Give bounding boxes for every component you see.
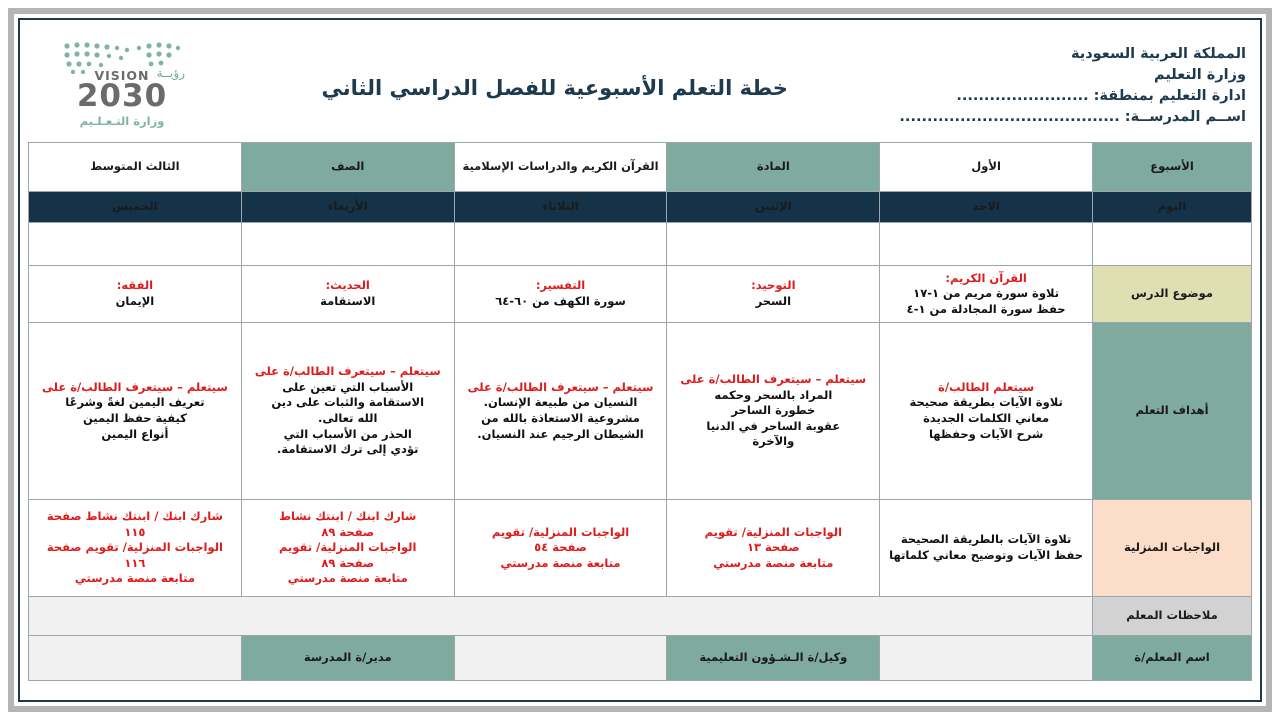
homework-thursday-line-2: ١١٦ (33, 556, 237, 572)
homework-sunday-line-1: حفظ الآيات وتوضيح معاني كلماتها (884, 548, 1088, 564)
homework-tuesday-line-1: متابعة منصة مدرستي (459, 556, 663, 572)
homework-tuesday: الواجبات المنزلية/ تقويم صفحة ٥٤ متابعة … (454, 500, 667, 597)
cell-subject-value: القرآن الكريم والدراسات الإسلامية (454, 143, 667, 192)
homework-thursday: شارك ابنك / ابنتك نشاط صفحة ١١٥ الواجبات… (29, 500, 242, 597)
cell-day-thursday: الخميس (29, 192, 242, 223)
homework-wednesday-line-1: الواجبات المنزلية/ تقويم (246, 540, 450, 556)
goals-sunday-line-0: تلاوة الآيات بطريقة صحيحة (884, 395, 1088, 411)
lesson-topic-sunday-heading: القرآن الكريم: (884, 271, 1088, 287)
lesson-topic-monday: التوحيد: السحر (667, 266, 880, 323)
homework-thursday-line-0: ١١٥ (33, 525, 237, 541)
goals-wednesday-line-3: الحذر من الأسباب التي (246, 427, 450, 443)
table-row-teacher-notes: ملاحظات المعلم (29, 597, 1252, 636)
homework-wednesday-heading: شارك ابنك / ابنتك نشاط (246, 509, 450, 525)
goals-monday-line-2: عقوبة الساحر في الدنيا (671, 419, 875, 435)
goals-tuesday-line-0: النسيان من طبيعة الإنسان. (459, 395, 663, 411)
homework-wednesday-line-2: صفحة ٨٩ (246, 556, 450, 572)
table-row-spacer (29, 223, 1252, 266)
homework-tuesday-line-0: صفحة ٥٤ (459, 540, 663, 556)
page-frame: المملكة العربية السعودية وزارة التعليم ا… (8, 8, 1272, 712)
table-row-meta: الأسبوع الأول المادة القرآن الكريم والدر… (29, 143, 1252, 192)
header-institution-block: المملكة العربية السعودية وزارة التعليم ا… (899, 28, 1246, 128)
lesson-topic-tuesday-line-0: سورة الكهف من ٦٠-٦٤ (459, 294, 663, 310)
signature-field-teacher[interactable] (880, 636, 1093, 681)
goals-monday-line-0: المراد بالسحر وحكمه (671, 388, 875, 404)
lesson-topic-sunday-line-1: حفظ سورة المجادلة من ١-٤ (884, 302, 1088, 318)
goals-tuesday: سيتعلم – سيتعرف الطالب/ة على النسيان من … (454, 323, 667, 500)
row-label-lesson-topic: موضوع الدرس (1093, 266, 1252, 323)
homework-monday-line-1: متابعة منصة مدرستي (671, 556, 875, 572)
cell-week-value: الأول (880, 143, 1093, 192)
logo-ministry-label: وزارة التـعـلـيم (47, 114, 197, 128)
goals-tuesday-line-1: مشروعية الاستعاذة بالله من (459, 411, 663, 427)
cell-day-wednesday: الأربعاء (241, 192, 454, 223)
cell-day-tuesday: الثلاثاء (454, 192, 667, 223)
signature-label-academic-affairs: وكيل/ة الـشـؤون التعليمية (667, 636, 880, 681)
homework-monday-heading: الواجبات المنزلية/ تقويم (671, 525, 875, 541)
spacer-cell-3 (454, 223, 667, 266)
homework-thursday-line-1: الواجبات المنزلية/ تقويم صفحة (33, 540, 237, 556)
goals-monday: سيتعلم – سيتعرف الطالب/ة على المراد بالس… (667, 323, 880, 500)
row-label-teacher-notes: ملاحظات المعلم (1093, 597, 1252, 636)
lesson-topic-sunday-line-0: تلاوة سورة مريم من ١-١٧ (884, 286, 1088, 302)
homework-wednesday: شارك ابنك / ابنتك نشاط صفحة ٨٩ الواجبات … (241, 500, 454, 597)
ministry-line: وزارة التعليم (899, 65, 1246, 86)
goals-wednesday-heading: سيتعلم – سيتعرف الطالب/ة على (246, 364, 450, 380)
cell-day-label: اليوم (1093, 192, 1252, 223)
homework-thursday-line-3: متابعة منصة مدرستي (33, 571, 237, 587)
table-row-days: اليوم الاحد الإثنين الثلاثاء الأربعاء ال… (29, 192, 1252, 223)
goals-thursday-heading: سيتعلم – سيتعرف الطالب/ة على (33, 380, 237, 396)
cell-day-sunday: الاحد (880, 192, 1093, 223)
vision-year: 2030 (47, 78, 197, 114)
lesson-topic-thursday-heading: الفقه: (33, 278, 237, 294)
table-row-learning-goals: أهداف التعلم سيتعلم الطالب/ة تلاوة الآيا… (29, 323, 1252, 500)
spacer-cell-2 (667, 223, 880, 266)
goals-wednesday-line-4: تؤدي إلى ترك الاستقامة. (246, 442, 450, 458)
lesson-topic-tuesday: التفسير: سورة الكهف من ٦٠-٦٤ (454, 266, 667, 323)
table-row-homework: الواجبات المنزلية تلاوة الآيات بالطريقة … (29, 500, 1252, 597)
logo-area: VISION رؤيــة 2030 وزارة التـعـلـيم (34, 28, 210, 134)
row-label-learning-goals: أهداف التعلم (1093, 323, 1252, 500)
goals-monday-line-1: خطورة الساحر (671, 403, 875, 419)
goals-wednesday-line-1: الاستقامة والثبات على دين (246, 395, 450, 411)
page-inner: المملكة العربية السعودية وزارة التعليم ا… (18, 18, 1262, 702)
homework-sunday-line-0: تلاوة الآيات بالطريقة الصحيحة (884, 532, 1088, 548)
row-label-teacher-name: اسم المعلم/ة (1093, 636, 1252, 681)
goals-monday-line-3: والآخرة (671, 434, 875, 450)
kingdom-line: المملكة العربية السعودية (899, 44, 1246, 65)
lesson-topic-wednesday: الحديث: الاستقامة (241, 266, 454, 323)
lesson-topic-wednesday-line-0: الاستقامة (246, 294, 450, 310)
goals-wednesday-line-2: الله تعالى. (246, 411, 450, 427)
signature-field-academic-affairs[interactable] (454, 636, 667, 681)
goals-sunday-line-2: شرح الآيات وحفظها (884, 427, 1088, 443)
goals-tuesday-heading: سيتعلم – سيتعرف الطالب/ة على (459, 380, 663, 396)
goals-thursday: سيتعلم – سيتعرف الطالب/ة على تعريف اليمي… (29, 323, 242, 500)
teacher-notes-field[interactable] (29, 597, 1093, 636)
cell-class-label: الصف (241, 143, 454, 192)
homework-monday-line-0: صفحة ١٣ (671, 540, 875, 556)
goals-thursday-line-2: أنواع اليمين (33, 427, 237, 443)
table-row-lesson-topic: موضوع الدرس القرآن الكريم: تلاوة سورة مر… (29, 266, 1252, 323)
cell-week-label: الأسبوع (1093, 143, 1252, 192)
spacer-cell-0 (1093, 223, 1252, 266)
goals-sunday-heading: سيتعلم الطالب/ة (884, 380, 1088, 396)
homework-wednesday-line-0: صفحة ٨٩ (246, 525, 450, 541)
goals-thursday-line-0: تعريف اليمين لغةً وشرعًا (33, 395, 237, 411)
lesson-topic-sunday: القرآن الكريم: تلاوة سورة مريم من ١-١٧ ح… (880, 266, 1093, 323)
directorate-line: ادارة التعليم بمنطقة: ..................… (899, 86, 1246, 107)
goals-wednesday: سيتعلم – سيتعرف الطالب/ة على الأسباب الت… (241, 323, 454, 500)
goals-thursday-line-1: كيفية حفظ اليمين (33, 411, 237, 427)
spacer-cell-1 (880, 223, 1093, 266)
signature-field-principal[interactable] (29, 636, 242, 681)
spacer-cell-4 (241, 223, 454, 266)
homework-tuesday-heading: الواجبات المنزلية/ تقويم (459, 525, 663, 541)
document-header: المملكة العربية السعودية وزارة التعليم ا… (20, 20, 1260, 142)
lesson-topic-thursday: الفقه: الإيمان (29, 266, 242, 323)
homework-thursday-heading: شارك ابنك / ابنتك نشاط صفحة (33, 509, 237, 525)
goals-wednesday-line-0: الأسباب التي تعين على (246, 380, 450, 396)
goals-sunday: سيتعلم الطالب/ة تلاوة الآيات بطريقة صحيح… (880, 323, 1093, 500)
page-title: خطة التعلم الأسبوعية للفصل الدراسي الثان… (210, 28, 899, 100)
goals-tuesday-line-2: الشيطان الرجيم عند النسيان. (459, 427, 663, 443)
goals-sunday-line-1: معاني الكلمات الجديدة (884, 411, 1088, 427)
weekly-plan-table: الأسبوع الأول المادة القرآن الكريم والدر… (28, 142, 1252, 681)
lesson-topic-thursday-line-0: الإيمان (33, 294, 237, 310)
homework-wednesday-line-3: متابعة منصة مدرستي (246, 571, 450, 587)
lesson-topic-monday-line-0: السحر (671, 294, 875, 310)
spacer-cell-5 (29, 223, 242, 266)
cell-subject-label: المادة (667, 143, 880, 192)
lesson-topic-tuesday-heading: التفسير: (459, 278, 663, 294)
vision-2030-logo: VISION رؤيــة 2030 وزارة التـعـلـيم (47, 38, 197, 134)
row-label-homework: الواجبات المنزلية (1093, 500, 1252, 597)
homework-sunday: تلاوة الآيات بالطريقة الصحيحة حفظ الآيات… (880, 500, 1093, 597)
school-name-line: اســم المدرســة: .......................… (899, 107, 1246, 128)
lesson-topic-monday-heading: التوحيد: (671, 278, 875, 294)
lesson-topic-wednesday-heading: الحديث: (246, 278, 450, 294)
homework-monday: الواجبات المنزلية/ تقويم صفحة ١٣ متابعة … (667, 500, 880, 597)
signature-label-principal: مدير/ة المدرسة (241, 636, 454, 681)
cell-day-monday: الإثنين (667, 192, 880, 223)
goals-monday-heading: سيتعلم – سيتعرف الطالب/ة على (671, 372, 875, 388)
cell-class-value: الثالث المتوسط (29, 143, 242, 192)
table-row-signatures: اسم المعلم/ة وكيل/ة الـشـؤون التعليمية م… (29, 636, 1252, 681)
